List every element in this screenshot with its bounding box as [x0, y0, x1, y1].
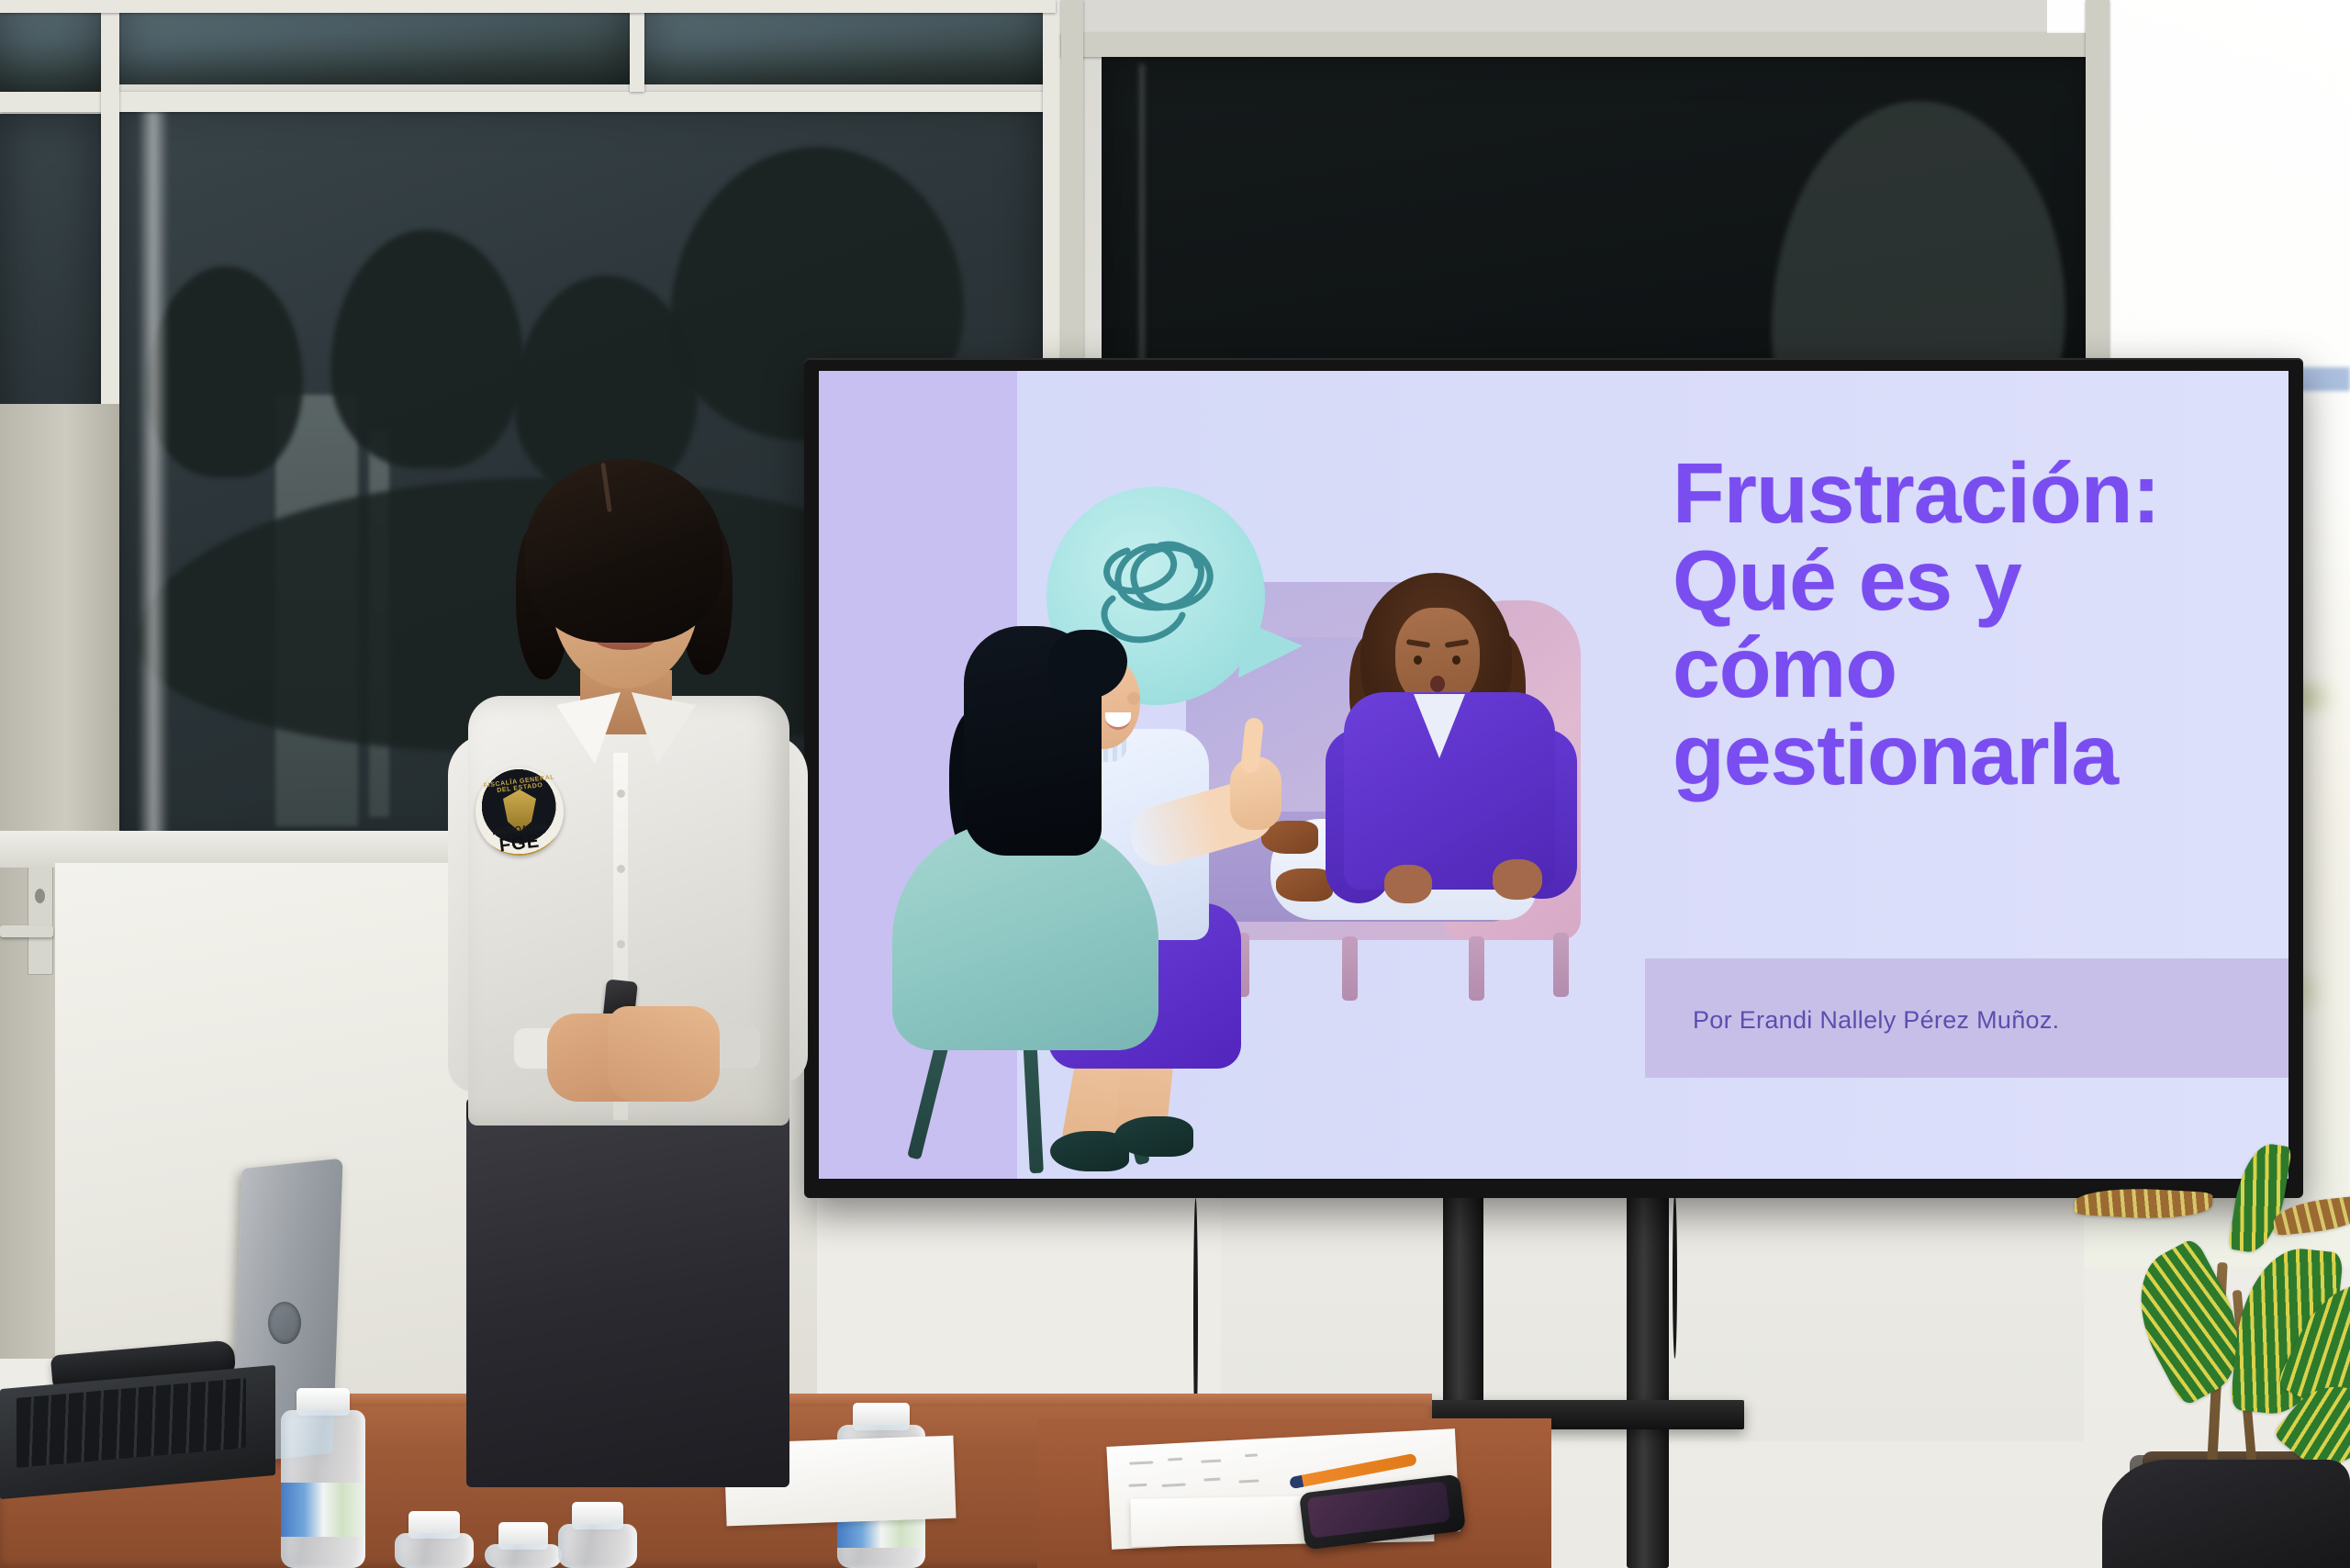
television: Frustración: Qué es y cómo gestionarla P… — [804, 358, 2303, 1198]
slide-credit-bar: Por Erandi Nallely Pérez Muñoz. — [1645, 958, 2288, 1078]
slide-title-line-2: Qué es y cómo — [1673, 537, 2260, 711]
therapist-nose — [1127, 692, 1140, 705]
door-keyhole-icon — [35, 889, 45, 903]
slide-credit-text: Por Erandi Nallely Pérez Muñoz. — [1693, 1006, 2059, 1035]
tv-signal-cable — [1673, 1193, 1677, 1359]
hp-logo-icon — [268, 1302, 301, 1344]
presenter-trousers — [466, 1102, 789, 1487]
foreground-chair — [2102, 1460, 2350, 1568]
water-bottle[interactable] — [281, 1388, 365, 1568]
water-bottle[interactable] — [395, 1511, 474, 1568]
phone-screen[interactable] — [1307, 1481, 1450, 1538]
fge-badge: FISCALÍA GENERAL DEL ESTADO MICHOACÁN FG… — [476, 767, 564, 856]
door-lock-plate — [28, 863, 53, 975]
presentation-slide: Frustración: Qué es y cómo gestionarla P… — [819, 371, 2288, 1179]
bottle-body — [395, 1533, 474, 1568]
door-handle[interactable] — [0, 925, 53, 937]
photo-scene: Frustración: Qué es y cómo gestionarla P… — [0, 0, 2350, 1568]
slide-title: Frustración: Qué es y cómo gestionarla — [1673, 450, 2260, 798]
water-bottle[interactable] — [558, 1502, 637, 1568]
tv-screen: Frustración: Qué es y cómo gestionarla P… — [819, 371, 2288, 1179]
bottle-label — [281, 1483, 365, 1536]
slide-title-line-1: Frustración: — [1673, 450, 2260, 537]
client-mouth — [1430, 676, 1445, 692]
presenter: FISCALÍA GENERAL DEL ESTADO MICHOACÁN FG… — [367, 459, 918, 1487]
bottle-body — [485, 1544, 562, 1568]
therapy-session-illustration — [911, 426, 1645, 1160]
presenter-hand-right — [608, 1006, 720, 1102]
client-hand-left — [1384, 865, 1432, 903]
tv-stand-post-right — [1627, 1193, 1669, 1568]
bottle-body — [281, 1410, 365, 1568]
bottle-body — [558, 1524, 637, 1568]
client-shoe-right — [1276, 868, 1333, 902]
presenter-hair — [525, 459, 723, 643]
water-bottle[interactable] — [485, 1522, 562, 1568]
therapist-shoe-right — [1114, 1116, 1193, 1157]
client-hand-right — [1493, 859, 1542, 900]
slide-title-line-3: gestionarla — [1673, 711, 2260, 799]
